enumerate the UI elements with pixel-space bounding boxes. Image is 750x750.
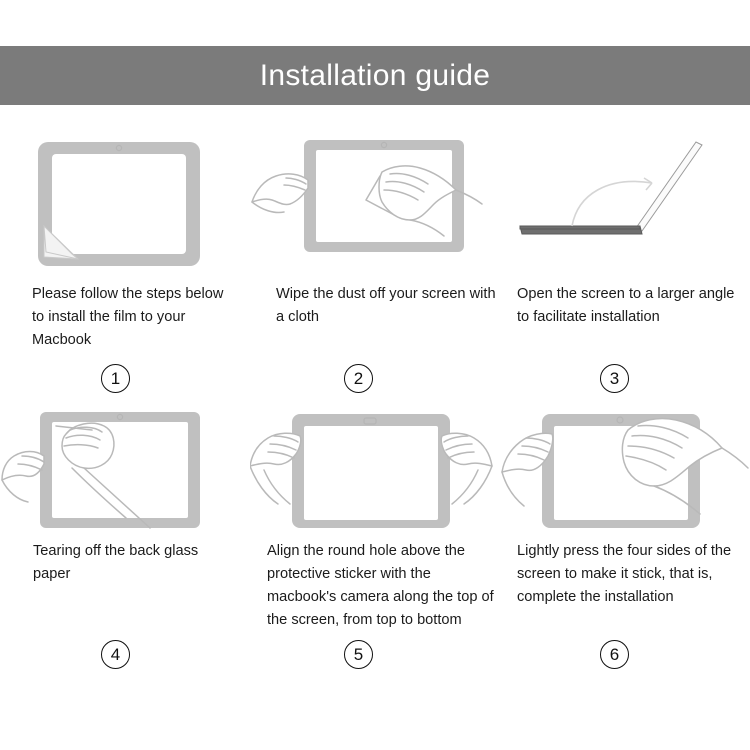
- step-2-illustration: [250, 128, 500, 278]
- page-title: Installation guide: [260, 61, 491, 91]
- step-card-1: Please follow the steps below to install…: [0, 128, 250, 400]
- step-5-illustration: [250, 400, 500, 550]
- step-6-number: 6: [600, 640, 629, 669]
- step-4-caption: Tearing off the back glass paper: [0, 540, 250, 586]
- hand-wiping-screen-with-cloth-icon: [250, 128, 500, 278]
- step-card-2: Wipe the dust off your screen with a clo…: [250, 128, 500, 400]
- step-5-number: 5: [344, 640, 373, 669]
- step-3-caption: Open the screen to a larger angle to fac…: [500, 283, 750, 329]
- step-1-caption: Please follow the steps below to install…: [0, 283, 250, 352]
- hand-pressing-film-edges-icon: [500, 400, 750, 550]
- step-card-3: Open the screen to a larger angle to fac…: [500, 128, 750, 400]
- step-4-illustration: [0, 400, 250, 550]
- two-hands-aligning-film-icon: [250, 400, 500, 550]
- installation-guide-page: Installation guide Please follow the ste…: [0, 0, 750, 750]
- step-1-illustration: [0, 128, 250, 278]
- step-card-4: Tearing off the back glass paper 4: [0, 400, 250, 700]
- step-3-number: 3: [600, 364, 629, 393]
- step-6-caption: Lightly press the four sides of the scre…: [500, 540, 750, 609]
- macbook-screen-with-peeling-film-icon: [0, 128, 250, 278]
- step-1-number: 1: [101, 364, 130, 393]
- laptop-open-lid-angle-icon: [500, 128, 750, 278]
- steps-row-top: Please follow the steps below to install…: [0, 128, 750, 400]
- step-card-6: Lightly press the four sides of the scre…: [500, 400, 750, 700]
- steps-row-bottom: Tearing off the back glass paper 4: [0, 400, 750, 700]
- step-4-number: 4: [101, 640, 130, 669]
- step-6-illustration: [500, 400, 750, 550]
- header-bar: Installation guide: [0, 46, 750, 105]
- step-5-caption: Align the round hole above the protectiv…: [250, 540, 500, 632]
- step-2-number: 2: [344, 364, 373, 393]
- step-2-caption: Wipe the dust off your screen with a clo…: [250, 283, 500, 329]
- step-card-5: Align the round hole above the protectiv…: [250, 400, 500, 700]
- steps-grid: Please follow the steps below to install…: [0, 128, 750, 700]
- hand-tearing-backing-paper-icon: [0, 400, 250, 550]
- step-3-illustration: [500, 128, 750, 278]
